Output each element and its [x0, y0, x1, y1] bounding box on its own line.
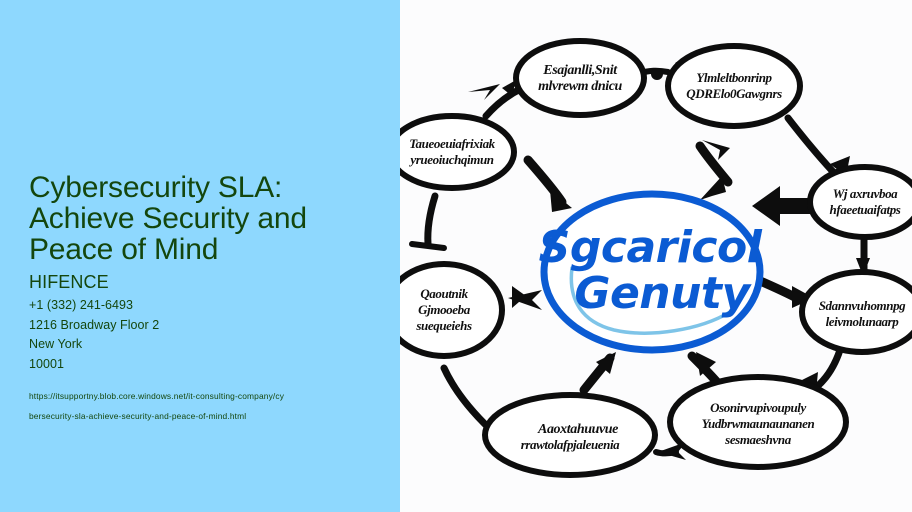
company-name: HIFENCE [29, 271, 369, 293]
page-root: Cybersecurity SLA: Achieve Security and … [0, 0, 912, 512]
node-bottom-right-label-1: Osonirvupivoupuly [710, 400, 806, 415]
source-url-line-2: bersecurity-sla-achieve-security-and-pea… [29, 406, 359, 426]
node-top-left-label-2: mlvrewm dnicu [538, 79, 622, 94]
node-right-lower-label-1: Sdannvuhomnpg [819, 298, 906, 313]
node-right-upper[interactable]: Wj axruvboa hfaeetuaifatps [810, 167, 912, 237]
node-top-right[interactable]: Ylmleltbonrinp QDRElo0Gawgnrs [668, 46, 800, 126]
center-label-line-1: Sgcaricol [539, 222, 763, 273]
node-left-upper-label-2: yrueoiuchqimun [408, 152, 493, 167]
page-title: Cybersecurity SLA: Achieve Security and … [29, 172, 369, 265]
contact-street: 1216 Broadway Floor 2 [29, 316, 369, 336]
node-right-lower-label-2: leivmolunaarp [826, 314, 900, 329]
node-bottom-right-label-3: sesmaeshvna [724, 432, 792, 447]
node-right-upper-label-2: hfaeetuaifatps [830, 202, 901, 217]
node-bottom-left[interactable]: Aaoxtahuuvue rrawtolafpjaleuenia [485, 395, 655, 475]
contact-block: +1 (332) 241-6493 1216 Broadway Floor 2 … [29, 296, 369, 374]
source-url[interactable]: https://itsupportny.blob.core.windows.ne… [29, 386, 359, 426]
node-bottom-left-label-1: Aaoxtahuuvue [537, 422, 618, 437]
node-right-lower[interactable]: Sdannvuhomnpg leivmolunaarp [802, 272, 912, 352]
contact-zip: 10001 [29, 355, 369, 375]
diagram-panel: Esajanlli,Snit mlvrewm dnicu Ylmleltbonr… [400, 0, 912, 512]
node-top-left-outline [516, 41, 644, 115]
center-label-line-2: Genuty [574, 268, 752, 319]
connector-left-tick [412, 244, 444, 248]
cycle-diagram: Esajanlli,Snit mlvrewm dnicu Ylmleltbonr… [400, 0, 912, 512]
node-left-lower-label-2: Gjmooeba [418, 302, 471, 317]
contact-phone: +1 (332) 241-6493 [29, 296, 369, 316]
left-info-panel: Cybersecurity SLA: Achieve Security and … [0, 0, 400, 512]
node-top-right-label-2: QDRElo0Gawgnrs [686, 86, 782, 101]
node-bottom-right-label-2: Yudbrwmaunaunanen [702, 416, 815, 431]
node-left-lower-label-3: suequeiehs [415, 318, 472, 333]
node-left-upper[interactable]: Taueoeuiafrixiak yrueoiuchqimun [400, 116, 514, 188]
center-node[interactable]: Sgcaricol Genuty [539, 194, 763, 350]
node-left-lower-label-1: Qaoutnik [420, 286, 468, 301]
node-top-left[interactable]: Esajanlli,Snit mlvrewm dnicu [516, 41, 644, 115]
node-top-right-label-1: Ylmleltbonrinp [696, 70, 772, 85]
contact-city: New York [29, 335, 369, 355]
left-panel-content: Cybersecurity SLA: Achieve Security and … [29, 172, 369, 426]
arrow-dot-top [651, 68, 663, 80]
node-left-upper-label-1: Taueoeuiafrixiak [409, 136, 495, 151]
node-top-left-label-1: Esajanlli,Snit [542, 63, 618, 78]
node-right-upper-label-1: Wj axruvboa [833, 186, 898, 201]
source-url-line-1: https://itsupportny.blob.core.windows.ne… [29, 386, 359, 406]
node-bottom-right[interactable]: Osonirvupivoupuly Yudbrwmaunaunanen sesm… [670, 377, 846, 467]
node-bottom-left-label-2: rrawtolafpjaleuenia [521, 437, 620, 452]
node-left-lower[interactable]: Qaoutnik Gjmooeba suequeiehs [400, 264, 502, 356]
